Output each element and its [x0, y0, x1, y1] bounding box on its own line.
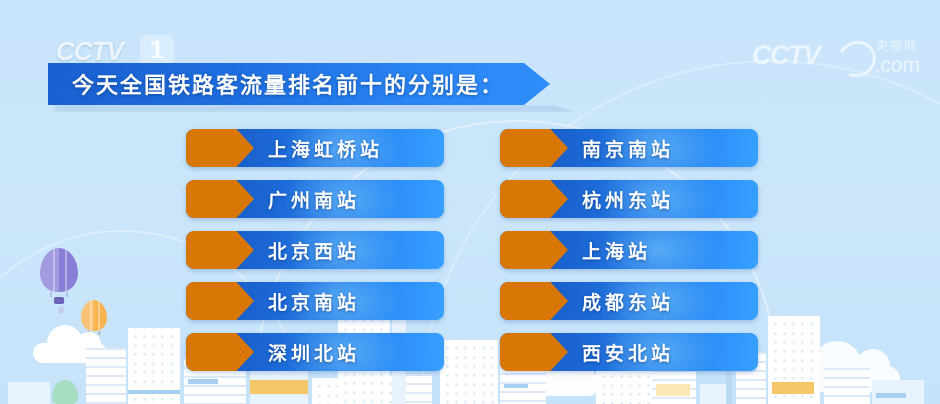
building-accent [128, 390, 180, 394]
cloud-icon [508, 372, 600, 396]
station-name: 上海虹桥站 [268, 135, 383, 162]
building-shape [872, 380, 924, 404]
building-accent [504, 384, 528, 388]
list-item[interactable]: 西安北站 [500, 333, 758, 371]
cloud-icon [33, 343, 107, 363]
list-item[interactable]: 成都东站 [500, 282, 758, 320]
building-shape [8, 382, 50, 404]
list-item[interactable]: 南京南站 [500, 129, 758, 167]
station-name: 南京南站 [582, 135, 674, 162]
rank-chevron-icon [186, 180, 254, 218]
building-shape [768, 316, 820, 404]
building-shape [128, 328, 180, 404]
building-shape [824, 368, 870, 404]
station-name: 广州南站 [268, 186, 360, 213]
building-shape [380, 374, 432, 404]
station-name: 西安北站 [582, 339, 674, 366]
rank-chevron-icon [186, 129, 254, 167]
hot-air-balloon-orange-icon [81, 300, 107, 340]
station-name: 深圳北站 [268, 339, 360, 366]
building-accent [876, 393, 906, 398]
rank-chevron-icon [500, 180, 568, 218]
building-accent [188, 379, 218, 384]
station-name: 北京西站 [268, 237, 360, 264]
station-name: 上海站 [582, 237, 651, 264]
rank-chevron-icon [500, 129, 568, 167]
building-accent [250, 380, 308, 394]
building-shape [250, 370, 308, 404]
list-item[interactable]: 北京西站 [186, 231, 444, 269]
headline-shadow [54, 105, 574, 112]
balloon-sandbag-icon [58, 306, 64, 314]
building-shape [86, 348, 126, 404]
list-item[interactable]: 上海虹桥站 [186, 129, 444, 167]
page-title: 今天全国铁路客流量排名前十的分别是： [72, 68, 504, 100]
watermark-tld-text: .com [874, 54, 920, 78]
cctv-logo-text: CCTV [56, 36, 123, 66]
rank-chevron-icon [186, 333, 254, 371]
station-name: 北京南站 [268, 288, 360, 315]
headline-bar: 今天全国铁路客流量排名前十的分别是： [48, 63, 550, 105]
station-name: 成都东站 [582, 288, 674, 315]
list-item[interactable]: 深圳北站 [186, 333, 444, 371]
headline-banner: 今天全国铁路客流量排名前十的分别是： [48, 63, 550, 105]
building-shape [652, 370, 696, 404]
building-accent [772, 382, 814, 394]
station-ranking-list: 上海虹桥站 广州南站 北京西站 北京南站 深圳北站 南京南站 [186, 129, 758, 373]
watermark-swoosh-icon [833, 36, 881, 83]
hot-air-balloon-purple-icon [40, 248, 78, 304]
rank-chevron-icon [186, 282, 254, 320]
channel-number-text: 1 [150, 36, 164, 65]
list-item[interactable]: 北京南站 [186, 282, 444, 320]
watermark-chinese-text: 央视网 [876, 37, 918, 54]
rank-chevron-icon [500, 333, 568, 371]
tree-icon [52, 380, 78, 404]
station-name: 杭州东站 [582, 186, 674, 213]
building-accent [656, 384, 690, 396]
watermark-brand-text: CCTV [752, 40, 820, 70]
cctv-com-watermark: CCTV 央视网 .com [752, 40, 922, 76]
rank-chevron-icon [500, 282, 568, 320]
rank-chevron-icon [186, 231, 254, 269]
building-shape [700, 384, 726, 404]
broadcast-graphic: CCTV 1 CCTV 央视网 .com 今天全国铁路客流量排名前十的分别是： … [0, 0, 940, 404]
list-item[interactable]: 广州南站 [186, 180, 444, 218]
list-item[interactable]: 上海站 [500, 231, 758, 269]
rank-chevron-icon [500, 231, 568, 269]
list-item[interactable]: 杭州东站 [500, 180, 758, 218]
cloud-icon [790, 366, 900, 392]
building-accent [380, 384, 432, 398]
building-shape [312, 378, 372, 404]
